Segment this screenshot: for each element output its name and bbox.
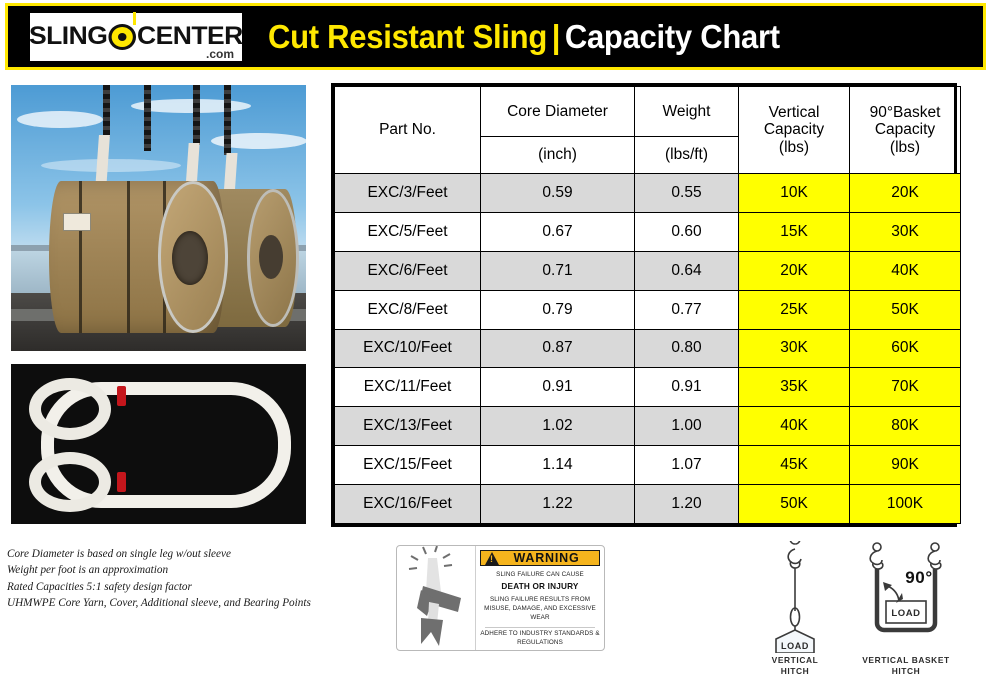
lifting-chain bbox=[103, 85, 110, 137]
table-row: EXC/5/Feet0.670.6015K30K bbox=[335, 212, 961, 251]
warning-label: WARNING SLING FAILURE CAN CAUSE DEATH OR… bbox=[396, 545, 605, 651]
cell-weight: 0.55 bbox=[635, 174, 739, 213]
coil-eye bbox=[172, 231, 208, 285]
sling-eye-top bbox=[29, 378, 111, 440]
steel-coil-front bbox=[49, 181, 225, 333]
cell-basket-capacity: 100K bbox=[850, 485, 961, 524]
cell-vertical-capacity: 15K bbox=[739, 212, 850, 251]
cell-core-diameter: 0.79 bbox=[481, 290, 635, 329]
cell-vertical-capacity: 25K bbox=[739, 290, 850, 329]
vertical-capacity-line1: Vertical bbox=[769, 104, 820, 121]
cell-basket-capacity: 40K bbox=[850, 251, 961, 290]
column-header-part-no: Part No. bbox=[335, 87, 481, 174]
lifting-chain bbox=[193, 85, 200, 145]
cell-weight: 0.60 bbox=[635, 212, 739, 251]
warning-header-text: WARNING bbox=[504, 551, 599, 565]
table-row: EXC/16/Feet1.221.2050K100K bbox=[335, 485, 961, 524]
coil-eye bbox=[259, 235, 283, 279]
title-highlight: Cut Resistant Sling bbox=[268, 18, 547, 55]
cell-vertical-capacity: 30K bbox=[739, 329, 850, 368]
cell-weight: 0.77 bbox=[635, 290, 739, 329]
vertical-hitch-load-label: LOAD bbox=[781, 641, 809, 651]
coil-label-tag bbox=[63, 213, 91, 231]
cell-weight: 0.80 bbox=[635, 329, 739, 368]
warning-text-panel: WARNING SLING FAILURE CAN CAUSE DEATH OR… bbox=[476, 546, 604, 650]
basket-capacity-unit: (lbs) bbox=[890, 139, 920, 156]
cell-vertical-capacity: 10K bbox=[739, 174, 850, 213]
vertical-hitch-caption: VERTICAL HITCH bbox=[750, 655, 840, 678]
cell-vertical-capacity: 40K bbox=[739, 407, 850, 446]
capacity-table: Part No. Core Diameter Weight Vertical C… bbox=[331, 83, 957, 527]
header-banner: SLING CENTER .com Cut Resistant Sling|Ca… bbox=[5, 3, 986, 70]
steel-coil-photo bbox=[11, 85, 306, 351]
table-row: EXC/15/Feet1.141.0745K90K bbox=[335, 446, 961, 485]
warning-header-bar: WARNING bbox=[480, 550, 600, 566]
column-header-weight: Weight bbox=[635, 87, 739, 137]
coil-band bbox=[127, 181, 130, 333]
cell-core-diameter: 0.91 bbox=[481, 368, 635, 407]
cell-part-no: EXC/5/Feet bbox=[335, 212, 481, 251]
cell-basket-capacity: 70K bbox=[850, 368, 961, 407]
basket-hitch-caption-l1: VERTICAL BASKET bbox=[862, 655, 949, 665]
cell-weight: 1.00 bbox=[635, 407, 739, 446]
cell-core-diameter: 0.59 bbox=[481, 174, 635, 213]
basket-hitch-diagram: 90° LOAD VERTICAL BASKET HITCH bbox=[845, 541, 967, 678]
cell-part-no: EXC/6/Feet bbox=[335, 251, 481, 290]
warning-line1: SLING FAILURE CAN CAUSE bbox=[496, 571, 584, 578]
page-title: Cut Resistant Sling|Capacity Chart bbox=[268, 18, 780, 56]
cell-weight: 0.64 bbox=[635, 251, 739, 290]
vertical-capacity-line2: Capacity bbox=[764, 121, 824, 138]
cell-weight: 1.20 bbox=[635, 485, 739, 524]
column-header-basket-capacity: 90°Basket Capacity (lbs) bbox=[850, 87, 961, 174]
coil-band bbox=[79, 181, 82, 333]
cell-basket-capacity: 60K bbox=[850, 329, 961, 368]
table-row: EXC/11/Feet0.910.9135K70K bbox=[335, 368, 961, 407]
title-rest: Capacity Chart bbox=[565, 18, 780, 55]
cell-vertical-capacity: 35K bbox=[739, 368, 850, 407]
cell-weight: 1.07 bbox=[635, 446, 739, 485]
title-separator: | bbox=[552, 18, 560, 55]
cell-vertical-capacity: 45K bbox=[739, 446, 850, 485]
table-row: EXC/6/Feet0.710.6420K40K bbox=[335, 251, 961, 290]
sling-failure-pictogram-icon bbox=[397, 546, 476, 650]
vertical-hitch-icon: LOAD bbox=[750, 541, 840, 653]
cell-basket-capacity: 50K bbox=[850, 290, 961, 329]
cloud-shape bbox=[17, 111, 103, 128]
cell-basket-capacity: 30K bbox=[850, 212, 961, 251]
table-row: EXC/8/Feet0.790.7725K50K bbox=[335, 290, 961, 329]
cell-part-no: EXC/10/Feet bbox=[335, 329, 481, 368]
table-body: EXC/3/Feet0.590.5510K20KEXC/5/Feet0.670.… bbox=[335, 174, 961, 524]
cell-core-diameter: 1.02 bbox=[481, 407, 635, 446]
round-sling-photo bbox=[11, 364, 306, 524]
cell-vertical-capacity: 50K bbox=[739, 485, 850, 524]
cell-vertical-capacity: 20K bbox=[739, 251, 850, 290]
warning-line3: SLING FAILURE RESULTS FROM MISUSE, DAMAG… bbox=[480, 596, 600, 623]
lifting-chain bbox=[144, 85, 151, 151]
table-header: Part No. Core Diameter Weight Vertical C… bbox=[335, 87, 961, 174]
logo-word-sling: SLING bbox=[29, 24, 107, 49]
table-row: EXC/3/Feet0.590.5510K20K bbox=[335, 174, 961, 213]
vertical-hitch-diagram: LOAD VERTICAL HITCH bbox=[750, 541, 840, 678]
basket-hitch-caption-l2: HITCH bbox=[892, 666, 921, 676]
vertical-hitch-caption-l1: VERTICAL bbox=[772, 655, 819, 665]
column-header-core-diameter: Core Diameter bbox=[481, 87, 635, 137]
cell-part-no: EXC/15/Feet bbox=[335, 446, 481, 485]
cell-core-diameter: 0.71 bbox=[481, 251, 635, 290]
table-row: EXC/13/Feet1.021.0040K80K bbox=[335, 407, 961, 446]
vertical-capacity-unit: (lbs) bbox=[779, 139, 809, 156]
warning-triangle-icon bbox=[485, 552, 499, 565]
logo-dotcom: .com bbox=[206, 47, 234, 61]
cell-part-no: EXC/13/Feet bbox=[335, 407, 481, 446]
cell-basket-capacity: 80K bbox=[850, 407, 961, 446]
cell-part-no: EXC/16/Feet bbox=[335, 485, 481, 524]
cell-part-no: EXC/3/Feet bbox=[335, 174, 481, 213]
target-icon bbox=[108, 24, 136, 50]
logo-word-center: CENTER bbox=[137, 24, 243, 49]
table-row: EXC/10/Feet0.870.8030K60K bbox=[335, 329, 961, 368]
cell-part-no: EXC/11/Feet bbox=[335, 368, 481, 407]
cell-basket-capacity: 20K bbox=[850, 174, 961, 213]
slingcenter-logo[interactable]: SLING CENTER .com bbox=[30, 13, 242, 61]
footnote-line: Weight per foot is an approximation bbox=[7, 562, 357, 578]
cell-part-no: EXC/8/Feet bbox=[335, 290, 481, 329]
footnote-line: UHMWPE Core Yarn, Cover, Additional slee… bbox=[7, 595, 357, 611]
vertical-hitch-caption-l2: HITCH bbox=[781, 666, 810, 676]
cloud-shape bbox=[41, 159, 181, 172]
cell-core-diameter: 1.22 bbox=[481, 485, 635, 524]
cell-core-diameter: 0.87 bbox=[481, 329, 635, 368]
footnote-line: Core Diameter is based on single leg w/o… bbox=[7, 546, 357, 562]
sling-red-band bbox=[117, 386, 126, 406]
basket-hitch-angle-label: 90° bbox=[905, 568, 933, 587]
sling-red-band bbox=[117, 472, 126, 492]
column-header-core-diameter-unit: (inch) bbox=[481, 137, 635, 174]
warning-line4: ADHERE TO INDUSTRY STANDARDS & REGULATIO… bbox=[480, 630, 600, 648]
basket-hitch-caption: VERTICAL BASKET HITCH bbox=[845, 655, 967, 678]
warning-line2: DEATH OR INJURY bbox=[501, 582, 578, 591]
basket-capacity-line1: 90°Basket bbox=[870, 104, 941, 121]
cell-weight: 0.91 bbox=[635, 368, 739, 407]
cell-core-diameter: 1.14 bbox=[481, 446, 635, 485]
column-header-vertical-capacity: Vertical Capacity (lbs) bbox=[739, 87, 850, 174]
basket-hitch-load-label: LOAD bbox=[891, 608, 920, 619]
cell-basket-capacity: 90K bbox=[850, 446, 961, 485]
basket-capacity-line2: Capacity bbox=[875, 121, 935, 138]
cell-core-diameter: 0.67 bbox=[481, 212, 635, 251]
footnotes: Core Diameter is based on single leg w/o… bbox=[7, 546, 357, 611]
column-header-weight-unit: (lbs/ft) bbox=[635, 137, 739, 174]
sling-eye-bottom bbox=[29, 452, 111, 512]
footnote-line: Rated Capacities 5:1 safety design facto… bbox=[7, 579, 357, 595]
basket-hitch-icon: 90° LOAD bbox=[845, 541, 967, 653]
lifting-chain bbox=[224, 85, 231, 155]
